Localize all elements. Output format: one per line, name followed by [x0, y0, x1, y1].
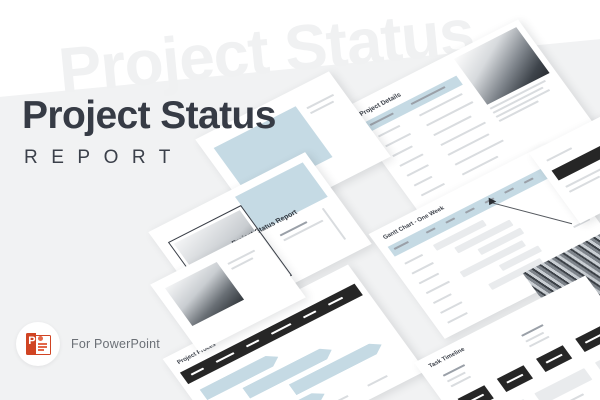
- gantt-task-label: [440, 301, 463, 314]
- table-row: [440, 122, 486, 146]
- gantt-task-label: [411, 262, 434, 275]
- timeline-milestone: [575, 325, 600, 352]
- table-row: [426, 101, 474, 126]
- gantt-task-label: [404, 254, 423, 265]
- table-row: [392, 145, 413, 157]
- gantt-task-label: [419, 273, 440, 285]
- page-subtitle: REPORT: [24, 147, 276, 169]
- cover-side-text: [322, 208, 346, 240]
- gantt-task-label: [426, 281, 450, 294]
- hero-copy: Project Status REPORT: [22, 96, 276, 169]
- preview-canvas: Project Status Project Details: [0, 0, 600, 400]
- process-label: [331, 395, 348, 400]
- powerpoint-badge-circle: [16, 322, 60, 366]
- placeholder-line: [546, 147, 572, 161]
- powerpoint-badge[interactable]: For PowerPoint: [16, 322, 160, 366]
- powerpoint-icon: [26, 333, 50, 355]
- timeline-caption-block: [595, 346, 600, 374]
- table-row: [399, 153, 423, 166]
- powerpoint-icon-letter: [26, 333, 36, 355]
- powerpoint-badge-label: For PowerPoint: [71, 337, 160, 351]
- table-row: [378, 125, 401, 138]
- timeline-caption-block: [534, 368, 592, 400]
- table-row: [406, 164, 429, 177]
- table-row: [455, 139, 504, 165]
- table-row: [421, 183, 445, 196]
- gantt-task-label: [433, 293, 452, 304]
- page-title: Project Status: [22, 96, 276, 135]
- gantt-task-label: [447, 312, 468, 324]
- slide-photo: [165, 262, 244, 326]
- table-row: [385, 133, 411, 147]
- powerpoint-icon-dot: [38, 336, 43, 341]
- slide-photo: [454, 27, 550, 105]
- table-row: [414, 176, 433, 187]
- process-label: [367, 375, 388, 387]
